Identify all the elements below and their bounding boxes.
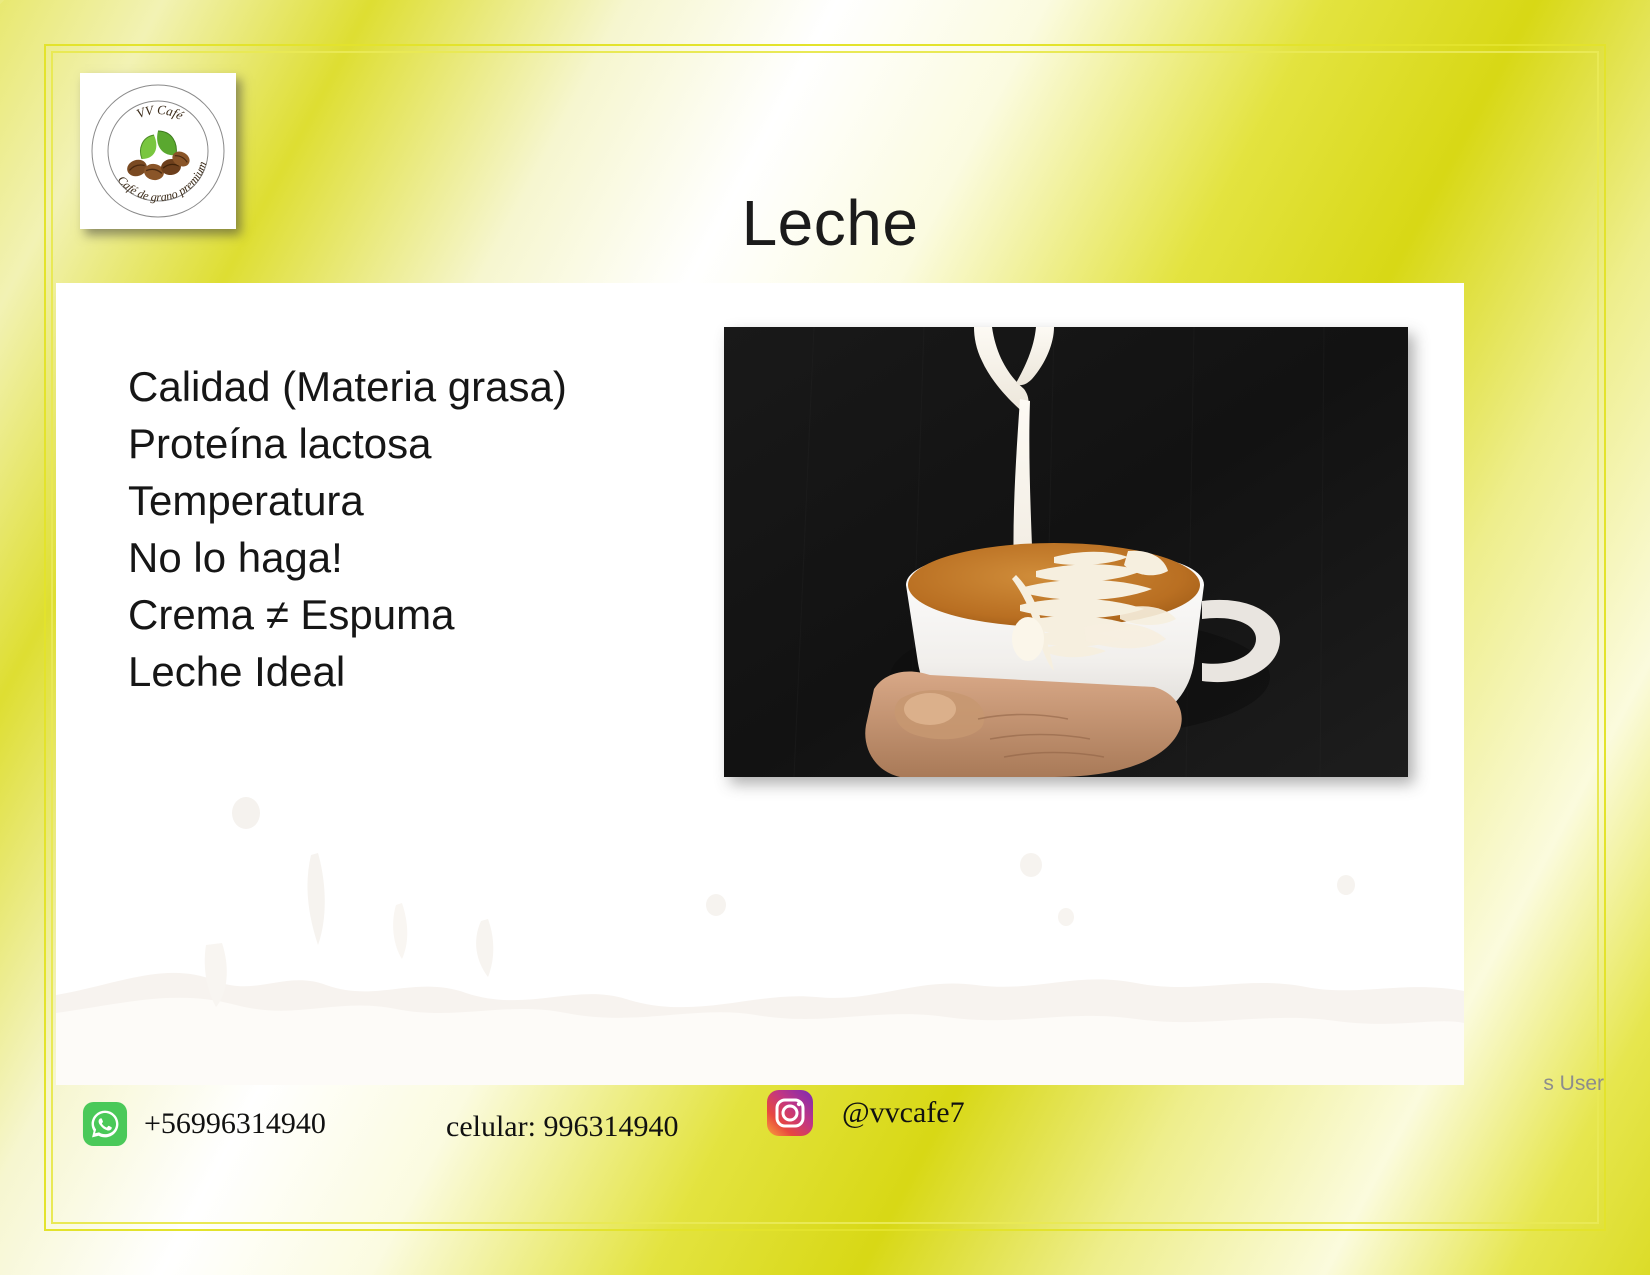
whatsapp-icon[interactable] <box>82 1101 128 1147</box>
latte-art-illustration <box>724 327 1408 777</box>
list-item: Temperatura <box>128 472 688 529</box>
latte-art-photo <box>724 327 1408 777</box>
cellular-contact: celular: 996314940 <box>446 1110 678 1144</box>
coffee-beans-leaves-logo: VV Café Café de grano premium <box>80 73 236 229</box>
list-item: Proteína lactosa <box>128 415 688 472</box>
instagram-contact[interactable]: @vvcafe7 <box>766 1089 965 1137</box>
list-item: Leche Ideal <box>128 643 688 700</box>
footer-contact-bar: +56996314940 celular: 996314940 <box>56 1085 1596 1175</box>
whatsapp-contact[interactable]: +56996314940 <box>82 1101 326 1147</box>
list-item: Crema ≠ Espuma <box>128 586 688 643</box>
list-item: No lo haga! <box>128 529 688 586</box>
bullet-list: Calidad (Materia grasa) Proteína lactosa… <box>128 358 688 700</box>
instagram-icon[interactable] <box>766 1089 814 1137</box>
instagram-handle: @vvcafe7 <box>842 1096 965 1130</box>
slide-canvas: VV Café Café de grano premium Leche <box>0 0 1650 1275</box>
milk-splash-graphic <box>56 745 1464 1085</box>
brand-logo: VV Café Café de grano premium <box>80 73 236 229</box>
list-item: Calidad (Materia grasa) <box>128 358 688 415</box>
whatsapp-number: +56996314940 <box>144 1107 326 1141</box>
page-title: Leche <box>300 186 1360 260</box>
cellular-number: celular: 996314940 <box>446 1110 678 1144</box>
